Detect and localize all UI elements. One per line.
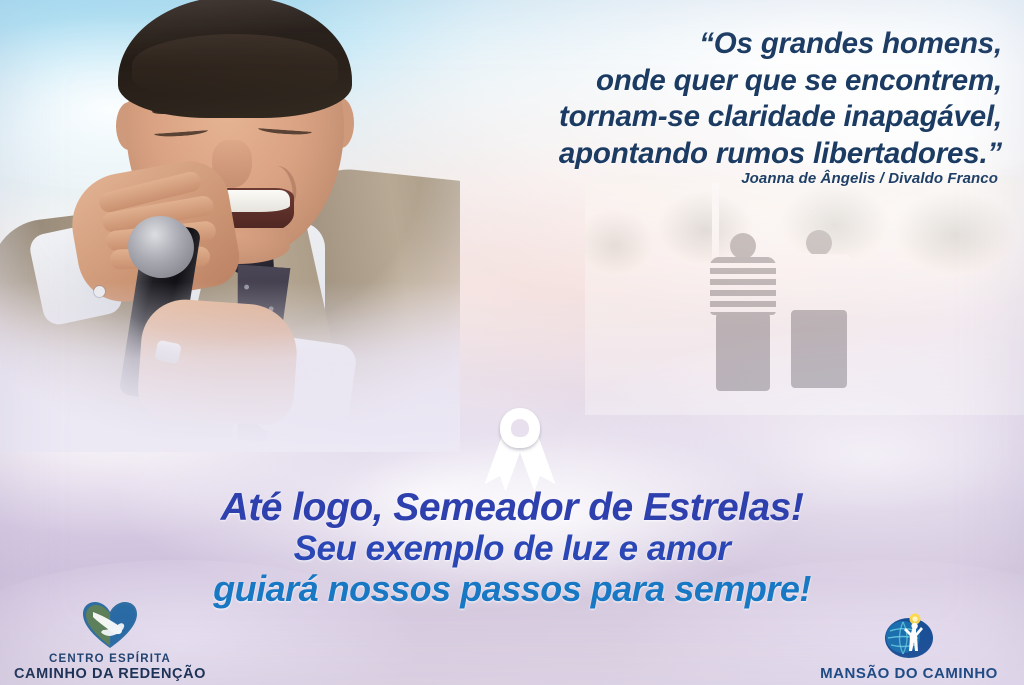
logo-left-line-1: CENTRO ESPÍRITA xyxy=(10,653,210,666)
quote-line-1: “Os grandes homens, xyxy=(382,26,1002,63)
quote-text: “Os grandes homens, onde quer que se enc… xyxy=(382,26,1002,172)
logo-left-line-2: CAMINHO DA REDENÇÃO xyxy=(10,666,210,683)
headline-line-2: Seu exemplo de luz e amor xyxy=(0,529,1024,568)
logo-mansao-do-caminho: MANSÃO DO CAMINHO xyxy=(804,611,1014,683)
quote-attribution: Joanna de Ângelis / Divaldo Franco xyxy=(378,170,998,187)
background-photo-two-people-walking xyxy=(585,175,1024,415)
logo-centro-espirita: CENTRO ESPÍRITA CAMINHO DA REDENÇÃO xyxy=(10,600,210,683)
memorial-poster: “Os grandes homens, onde quer que se enc… xyxy=(0,0,1024,685)
walking-figure-striped xyxy=(710,233,776,398)
memorial-headline: Até logo, Semeador de Estrelas! Seu exem… xyxy=(0,487,1024,609)
white-mourning-ribbon-icon xyxy=(487,408,553,490)
quote-line-4: apontando rumos libertadores.” xyxy=(382,136,1002,173)
logo-right-label: MANSÃO DO CAMINHO xyxy=(804,665,1014,683)
heart-hands-icon xyxy=(81,600,139,650)
quote-line-3: tornam-se claridade inapagável, xyxy=(382,99,1002,136)
hair xyxy=(118,0,352,118)
quote-line-2: onde quer que se encontrem, xyxy=(382,63,1002,100)
headline-line-1: Até logo, Semeador de Estrelas! xyxy=(0,487,1024,529)
walking-figure-white xyxy=(785,230,853,400)
globe-figure-icon xyxy=(881,611,937,661)
